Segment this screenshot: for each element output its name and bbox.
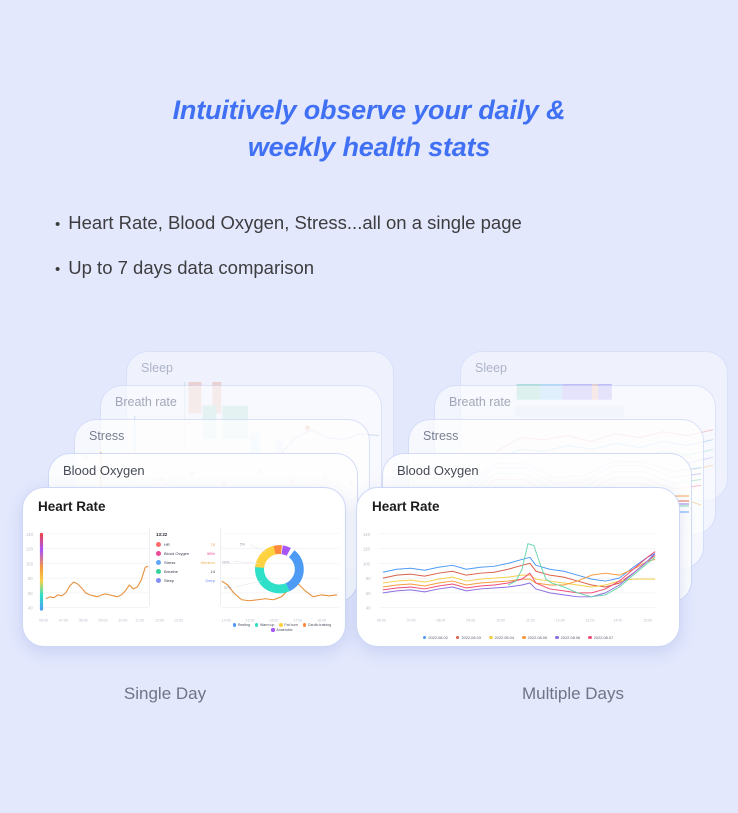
detail-value: 78 bbox=[211, 540, 215, 549]
svg-text:12:00: 12:00 bbox=[556, 618, 565, 622]
svg-text:13:00: 13:00 bbox=[174, 618, 183, 622]
legend-label: 2022.08.04 bbox=[495, 635, 514, 640]
donut-label-37: 37% bbox=[224, 586, 232, 590]
legend-swatch bbox=[303, 623, 306, 626]
legend-label: Anaerobic bbox=[276, 628, 292, 632]
legend-label: 2022.08.06 bbox=[561, 635, 580, 640]
single-day-card-stack: Sleep Breath rate bbox=[18, 345, 378, 675]
card-title: Blood Oxygen bbox=[397, 463, 479, 478]
detail-value: Deep bbox=[205, 576, 215, 585]
legend-item-day-4[interactable]: 2022.08.05 bbox=[522, 635, 547, 640]
heart-rate-zone-donut bbox=[252, 542, 308, 597]
detail-label: HR bbox=[164, 540, 211, 549]
detail-row-blood-oxygen: Blood Oxygen 98% bbox=[156, 549, 215, 558]
bullet-dot-icon: • bbox=[55, 257, 60, 283]
headline-line-1: Intuitively observe your daily & bbox=[173, 95, 566, 125]
card-heart-rate[interactable]: Heart Rate 140120100 806040 bbox=[356, 487, 680, 647]
legend-swatch bbox=[522, 636, 526, 640]
heart-rate-chart: 140120100 806040 bbox=[23, 524, 345, 646]
bullet-dot-icon: • bbox=[55, 212, 60, 238]
legend-label: 2022.08.03 bbox=[461, 635, 480, 640]
svg-text:10:00: 10:00 bbox=[496, 618, 505, 622]
detail-timestamp: 13:22 bbox=[156, 532, 215, 537]
donut-label-5: 5% bbox=[240, 543, 246, 547]
card-title: Stress bbox=[423, 429, 458, 443]
legend-swatch bbox=[489, 636, 493, 640]
card-title: Heart Rate bbox=[372, 499, 440, 514]
svg-text:60: 60 bbox=[28, 591, 33, 596]
card-stacks: Sleep Breath rate bbox=[0, 345, 738, 675]
svg-text:17:00: 17:00 bbox=[293, 618, 302, 622]
svg-text:09:00: 09:00 bbox=[99, 618, 108, 622]
svg-text:09:00: 09:00 bbox=[466, 618, 475, 622]
card-title: Breath rate bbox=[449, 395, 511, 409]
svg-text:40: 40 bbox=[366, 606, 371, 611]
svg-text:15:00: 15:00 bbox=[643, 618, 652, 622]
svg-text:140: 140 bbox=[26, 532, 34, 537]
svg-text:13:00: 13:00 bbox=[586, 618, 595, 622]
legend-label: Warm up bbox=[260, 623, 274, 627]
legend-swatch bbox=[456, 636, 460, 640]
headline-line-2: weekly health stats bbox=[0, 129, 738, 166]
list-item: • Heart Rate, Blood Oxygen, Stress...all… bbox=[55, 210, 738, 238]
detail-label: Breathe bbox=[164, 567, 211, 576]
legend-item-cardio-training: Cardio training bbox=[303, 623, 331, 627]
svg-text:140: 140 bbox=[363, 532, 371, 537]
card-title: Stress bbox=[89, 429, 124, 443]
legend-label: 2022.08.07 bbox=[594, 635, 613, 640]
sleep-icon bbox=[156, 578, 161, 583]
svg-text:10:00: 10:00 bbox=[118, 618, 127, 622]
detail-label: Blood Oxygen bbox=[164, 549, 207, 558]
legend-swatch bbox=[423, 636, 427, 640]
card-title: Sleep bbox=[475, 361, 507, 375]
svg-text:11:00: 11:00 bbox=[135, 618, 144, 622]
blood-oxygen-icon bbox=[156, 551, 161, 556]
detail-value: 14 bbox=[211, 567, 215, 576]
legend-label: 2022.08.05 bbox=[528, 635, 547, 640]
card-title: Breath rate bbox=[115, 395, 177, 409]
bullet-text: Up to 7 days data comparison bbox=[68, 255, 314, 281]
svg-text:16:00: 16:00 bbox=[269, 618, 278, 622]
zone-legend: Resting Warm up Fat burn Cardio training bbox=[223, 623, 341, 632]
detail-row-stress: Stress Medium bbox=[156, 558, 215, 567]
detail-label: Stress bbox=[164, 558, 201, 567]
legend-swatch bbox=[271, 628, 274, 631]
stress-icon bbox=[156, 560, 161, 565]
legend-label: Resting bbox=[238, 623, 250, 627]
breathe-icon bbox=[156, 569, 161, 574]
heart-rate-detail-panel: 13:22 HR 78 Blood Oxygen 98% Stress bbox=[149, 528, 221, 606]
feature-bullet-list: • Heart Rate, Blood Oxygen, Stress...all… bbox=[0, 210, 738, 283]
heart-rate-chart: 140120100 806040 06:0007:0008:00 bbox=[357, 524, 679, 646]
svg-text:06:00: 06:00 bbox=[377, 618, 386, 622]
bullet-text: Heart Rate, Blood Oxygen, Stress...all o… bbox=[68, 210, 522, 236]
legend-item-anaerobic: Anaerobic bbox=[271, 628, 292, 632]
svg-text:120: 120 bbox=[26, 547, 34, 552]
card-title: Blood Oxygen bbox=[63, 463, 145, 478]
detail-label: Sleep bbox=[164, 576, 205, 585]
svg-text:14:00: 14:00 bbox=[222, 618, 231, 622]
legend-swatch bbox=[233, 623, 236, 626]
svg-text:07:00: 07:00 bbox=[59, 618, 68, 622]
svg-text:14:00: 14:00 bbox=[613, 618, 622, 622]
heart-icon bbox=[156, 542, 161, 547]
multiple-days-card-stack: Sleep Breath rate bbox=[352, 345, 712, 675]
legend-item-day-2[interactable]: 2022.08.03 bbox=[456, 635, 481, 640]
legend-swatch bbox=[255, 623, 258, 626]
svg-text:100: 100 bbox=[363, 561, 371, 566]
svg-text:07:00: 07:00 bbox=[407, 618, 416, 622]
detail-row-breathe: Breathe 14 bbox=[156, 567, 215, 576]
card-title: Sleep bbox=[141, 361, 173, 375]
legend-swatch bbox=[279, 623, 282, 626]
legend-item-fat-burn: Fat burn bbox=[279, 623, 297, 627]
svg-text:100: 100 bbox=[26, 561, 34, 566]
legend-item-warm-up: Warm up bbox=[255, 623, 274, 627]
list-item: • Up to 7 days data comparison bbox=[55, 255, 738, 283]
caption-multiple-days: Multiple Days bbox=[386, 684, 738, 704]
day-legend: 2022.08.02 2022.08.03 2022.08.04 2022.08… bbox=[365, 635, 671, 640]
page-title: Intuitively observe your daily & weekly … bbox=[0, 0, 738, 166]
legend-item-resting: Resting bbox=[233, 623, 250, 627]
legend-item-day-6[interactable]: 2022.08.07 bbox=[588, 635, 613, 640]
detail-row-hr: HR 78 bbox=[156, 540, 215, 549]
multi-day-line-svg: 140120100 806040 06:0007:0008:00 bbox=[357, 524, 679, 646]
legend-swatch bbox=[588, 636, 592, 640]
svg-text:12:00: 12:00 bbox=[155, 618, 164, 622]
card-title: Heart Rate bbox=[38, 499, 106, 514]
legend-label: 2022.08.02 bbox=[428, 635, 447, 640]
svg-text:60: 60 bbox=[366, 591, 371, 596]
svg-text:08:00: 08:00 bbox=[79, 618, 88, 622]
svg-text:40: 40 bbox=[28, 606, 33, 611]
svg-text:18:00: 18:00 bbox=[317, 618, 326, 622]
stack-captions: Single Day Multiple Days bbox=[0, 684, 738, 704]
detail-row-sleep: Sleep Deep bbox=[156, 576, 215, 585]
svg-text:11:00: 11:00 bbox=[526, 618, 535, 622]
legend-item-day-1[interactable]: 2022.08.02 bbox=[423, 635, 448, 640]
svg-text:15:00: 15:00 bbox=[246, 618, 255, 622]
legend-label: Cardio training bbox=[308, 623, 331, 627]
donut-label-20: 20% bbox=[222, 560, 230, 564]
svg-text:08:00: 08:00 bbox=[437, 618, 446, 622]
legend-item-day-3[interactable]: 2022.08.04 bbox=[489, 635, 514, 640]
card-heart-rate[interactable]: Heart Rate bbox=[22, 487, 346, 647]
svg-text:80: 80 bbox=[366, 576, 371, 581]
svg-text:06:00: 06:00 bbox=[39, 618, 48, 622]
caption-single-day: Single Day bbox=[0, 684, 386, 704]
legend-item-day-5[interactable]: 2022.08.06 bbox=[555, 635, 580, 640]
detail-value: Medium bbox=[201, 558, 215, 567]
legend-swatch bbox=[555, 636, 559, 640]
svg-text:120: 120 bbox=[363, 547, 371, 552]
legend-label: Fat burn bbox=[284, 623, 297, 627]
svg-text:80: 80 bbox=[28, 576, 33, 581]
detail-value: 98% bbox=[207, 549, 215, 558]
